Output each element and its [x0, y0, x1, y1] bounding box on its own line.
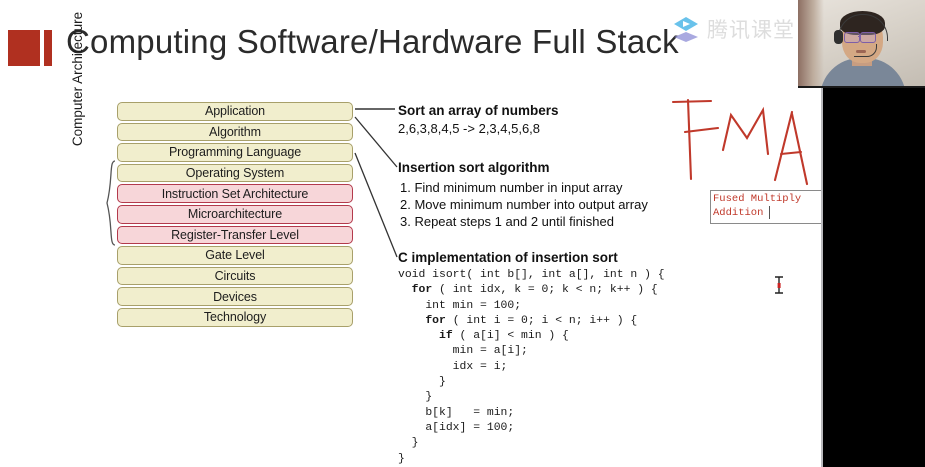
insertion-step-3: 3. Repeat steps 1 and 2 until finished	[400, 214, 614, 229]
annotation-text: Fused Multiply Addition	[713, 192, 823, 220]
stack-layer-instruction-set-architecture: Instruction Set Architecture	[117, 184, 353, 203]
insertion-step-2: 2. Move minimum number into output array	[400, 197, 648, 212]
presenter-webcam[interactable]	[798, 0, 925, 88]
glasses-right-lens-icon	[860, 32, 876, 43]
c-implementation-heading: C implementation of insertion sort	[398, 250, 618, 265]
stack-layer-algorithm: Algorithm	[117, 123, 353, 142]
code-line: }	[398, 375, 665, 390]
page-title: Computing Software/Hardware Full Stack	[66, 23, 679, 61]
computer-architecture-label: Computer Architecture	[70, 4, 85, 154]
sort-example: 2,6,3,8,4,5 -> 2,3,4,5,6,8	[398, 121, 540, 136]
stack-layer-application: Application	[117, 102, 353, 121]
code-line: }	[398, 436, 665, 451]
insertion-step-1: 1. Find minimum number in input array	[400, 180, 623, 195]
insertion-sort-heading: Insertion sort algorithm	[398, 160, 550, 175]
title-accent-bar	[44, 30, 52, 66]
code-line: idx = i;	[398, 360, 665, 375]
webcam-bottom-border	[798, 86, 925, 88]
full-stack-diagram: ApplicationAlgorithmProgramming Language…	[117, 102, 353, 329]
code-line: int min = 100;	[398, 299, 665, 314]
code-line: }	[398, 452, 665, 467]
stack-layer-circuits: Circuits	[117, 267, 353, 286]
title-accent-square	[8, 30, 40, 66]
webcam-shadow	[798, 0, 824, 88]
sort-heading: Sort an array of numbers	[398, 103, 559, 118]
computer-architecture-label-group: Computer Architecture	[78, 102, 104, 312]
headset-earcup-icon	[834, 30, 843, 44]
code-line: for ( int idx, k = 0; k < n; k++ ) {	[398, 283, 665, 298]
text-caret	[769, 206, 770, 219]
code-line: }	[398, 390, 665, 405]
watermark: 腾讯课堂	[672, 14, 795, 44]
stack-layer-operating-system: Operating System	[117, 164, 353, 183]
glasses-left-lens-icon	[844, 32, 860, 43]
tencent-classroom-logo-icon	[672, 16, 700, 42]
code-line: a[idx] = 100;	[398, 421, 665, 436]
presentation-slide: Computing Software/Hardware Full Stack C…	[0, 0, 823, 467]
stack-layer-technology: Technology	[117, 308, 353, 327]
code-line: for ( int i = 0; i < n; i++ ) {	[398, 314, 665, 329]
stack-layer-devices: Devices	[117, 287, 353, 306]
stack-layer-gate-level: Gate Level	[117, 246, 353, 265]
ibeam-cursor-icon	[772, 275, 786, 295]
stack-layer-programming-language: Programming Language	[117, 143, 353, 162]
code-line: b[k] = min;	[398, 406, 665, 421]
watermark-text: 腾讯课堂	[707, 14, 795, 44]
c-code-block: void isort( int b[], int a[], int n ) { …	[398, 268, 665, 467]
code-line: min = a[i];	[398, 344, 665, 359]
handwritten-fma-annotation	[655, 92, 835, 197]
presenter-mouth	[856, 50, 866, 53]
stack-layer-register-transfer-level: Register-Transfer Level	[117, 226, 353, 245]
glasses-bridge-icon	[858, 36, 861, 37]
stack-layer-microarchitecture: Microarchitecture	[117, 205, 353, 224]
screen-capture: Computing Software/Hardware Full Stack C…	[0, 0, 925, 467]
code-line: void isort( int b[], int a[], int n ) {	[398, 268, 665, 283]
architecture-brace-icon	[105, 160, 116, 246]
code-line: if ( a[i] < min ) {	[398, 329, 665, 344]
